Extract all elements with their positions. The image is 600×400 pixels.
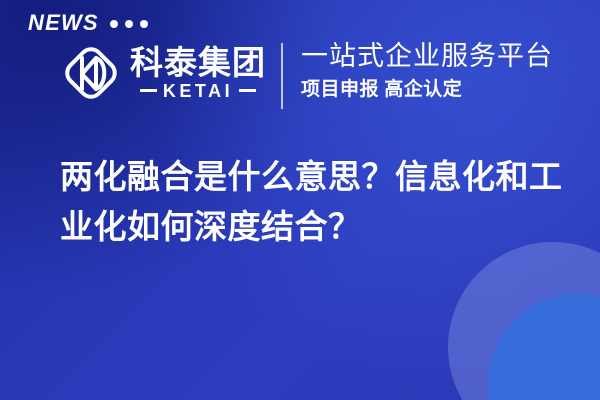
news-dot-2-icon bbox=[125, 20, 133, 28]
slogan-sub-text: 项目申报 高企认定 bbox=[301, 78, 553, 102]
news-banner: NEWS 科泰集团 KETAI bbox=[0, 0, 600, 400]
news-dot-1-icon bbox=[110, 20, 118, 28]
news-dots-icon bbox=[110, 20, 148, 28]
ketai-diamond-kd-monogram-icon bbox=[62, 42, 120, 104]
vertical-divider bbox=[281, 43, 283, 109]
page-title: 两化融合是什么意思？信息化和工业化如何深度结合？ bbox=[60, 152, 580, 252]
brand-rule-left-icon bbox=[140, 89, 157, 92]
brand-name-en: KETAI bbox=[163, 82, 233, 100]
news-dot-3-icon bbox=[140, 20, 148, 28]
slogan-block: 一站式企业服务平台 项目申报 高企认定 bbox=[301, 40, 553, 102]
slogan-main-text: 一站式企业服务平台 bbox=[301, 40, 553, 73]
brand-logo: 科泰集团 KETAI bbox=[62, 42, 266, 104]
brand-name-en-row: KETAI bbox=[130, 82, 266, 100]
news-label: NEWS bbox=[28, 12, 99, 34]
brand-logo-text: 科泰集团 KETAI bbox=[130, 46, 266, 100]
brand-rule-right-icon bbox=[239, 89, 256, 92]
news-kicker: NEWS bbox=[28, 12, 148, 34]
brand-name-cn: 科泰集团 bbox=[130, 46, 266, 81]
